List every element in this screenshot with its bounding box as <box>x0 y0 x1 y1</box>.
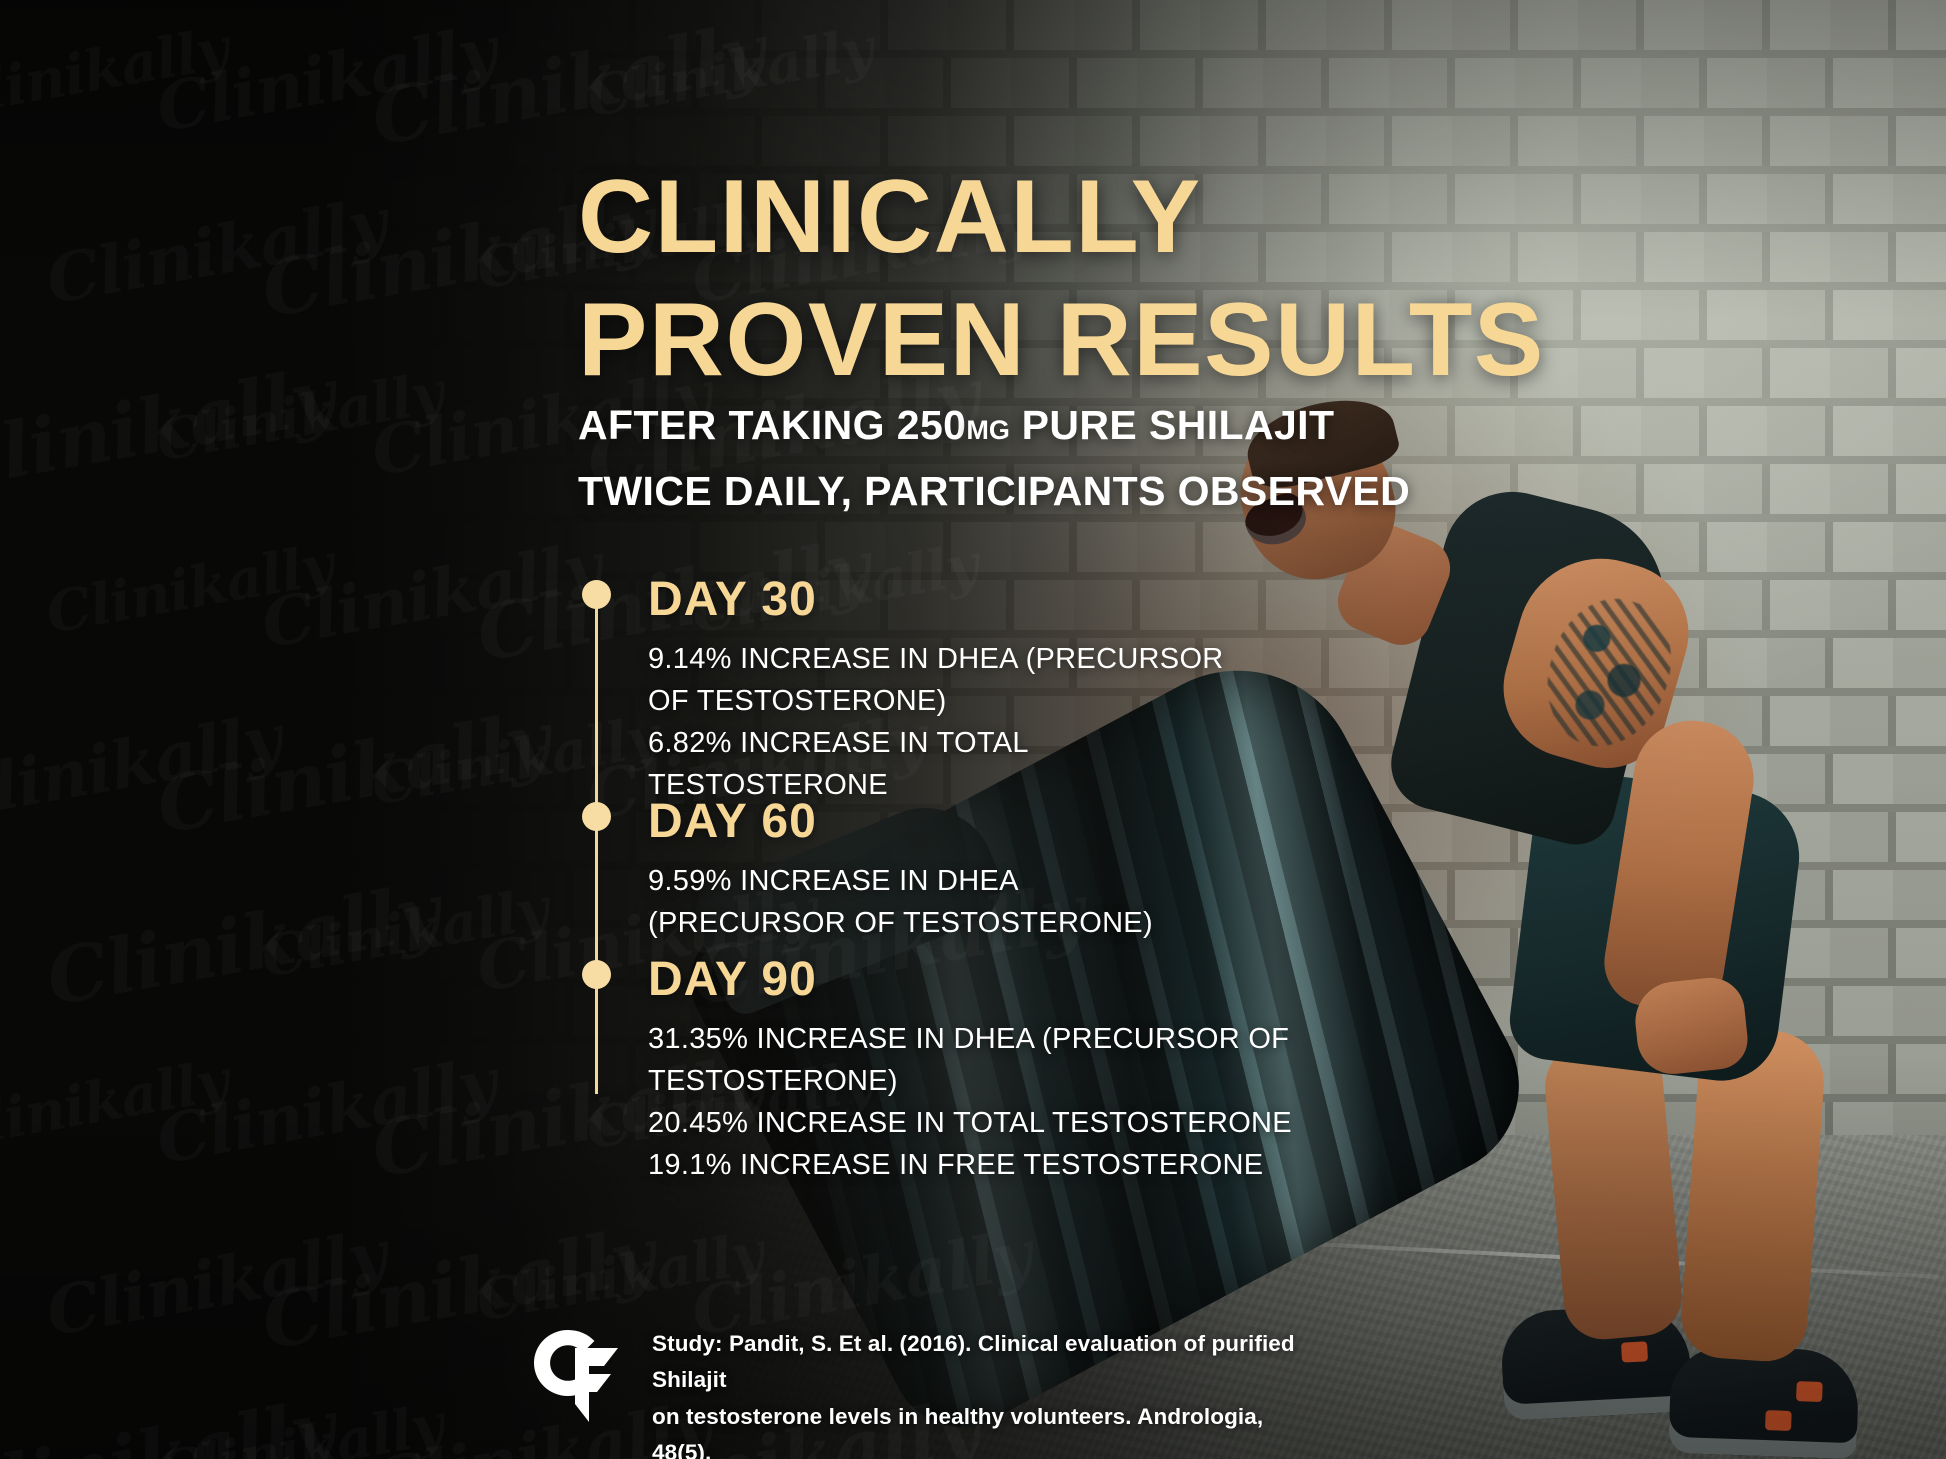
timeline-day-label: DAY 90 <box>648 956 1690 1004</box>
subtitle-prefix: AFTER TAKING <box>578 402 897 448</box>
page-title: CLINICALLY PROVEN RESULTS <box>578 156 1738 404</box>
infographic-poster: ClinikallyClinikallyClinikallyClinikally… <box>0 0 1946 1459</box>
timeline-result-line: 9.14% INCREASE IN DHEA (PRECURSOR <box>648 638 1690 680</box>
timeline-result-line: TESTOSTERONE) <box>648 1060 1690 1102</box>
dose-value: 250 <box>897 402 967 448</box>
timeline-dot-icon <box>582 960 611 989</box>
dose-unit: mg <box>966 415 1010 445</box>
subtitle: AFTER TAKING 250mg PURE SHILAJIT TWICE D… <box>578 392 1738 525</box>
timeline-day-label: DAY 60 <box>648 798 1690 846</box>
citation-line-1: Study: Pandit, S. Et al. (2016). Clinica… <box>652 1326 1312 1399</box>
timeline-result-line: 20.45% INCREASE IN TOTAL TESTOSTERONE <box>648 1102 1690 1144</box>
headline-line-1: CLINICALLY <box>578 156 1738 280</box>
timeline-result-line: 19.1% INCREASE IN FREE TESTOSTERONE <box>648 1144 1690 1186</box>
timeline-day-label: DAY 30 <box>648 576 1690 624</box>
timeline-dot-icon <box>582 802 611 831</box>
cf-logo-icon <box>534 1330 618 1422</box>
timeline-result-line: 6.82% INCREASE IN TOTAL <box>648 722 1690 764</box>
timeline-result-line: 31.35% INCREASE IN DHEA (PRECURSOR OF <box>648 1018 1690 1060</box>
results-timeline: DAY 309.14% INCREASE IN DHEA (PRECURSORO… <box>570 576 1690 1276</box>
timeline-result-line: 9.59% INCREASE IN DHEA <box>648 860 1690 902</box>
timeline-result-line: (PRECURSOR OF TESTOSTERONE) <box>648 902 1690 944</box>
timeline-item: DAY 9031.35% INCREASE IN DHEA (PRECURSOR… <box>570 956 1690 1186</box>
headline-line-2: PROVEN RESULTS <box>578 279 1738 403</box>
study-citation: Study: Pandit, S. Et al. (2016). Clinica… <box>652 1326 1312 1459</box>
subtitle-suffix: PURE SHILAJIT <box>1010 402 1335 448</box>
subtitle-line-1: AFTER TAKING 250mg PURE SHILAJIT <box>578 392 1738 458</box>
timeline-item: DAY 609.59% INCREASE IN DHEA(PRECURSOR O… <box>570 798 1690 944</box>
footer: Study: Pandit, S. Et al. (2016). Clinica… <box>534 1326 1312 1459</box>
citation-line-2: on testosterone levels in healthy volunt… <box>652 1399 1312 1459</box>
timeline-item: DAY 309.14% INCREASE IN DHEA (PRECURSORO… <box>570 576 1690 806</box>
content-layer: CLINICALLY PROVEN RESULTS AFTER TAKING 2… <box>0 0 1946 1459</box>
timeline-dot-icon <box>582 580 611 609</box>
timeline-result-line: OF TESTOSTERONE) <box>648 680 1690 722</box>
subtitle-line-2: TWICE DAILY, PARTICIPANTS OBSERVED <box>578 458 1738 524</box>
